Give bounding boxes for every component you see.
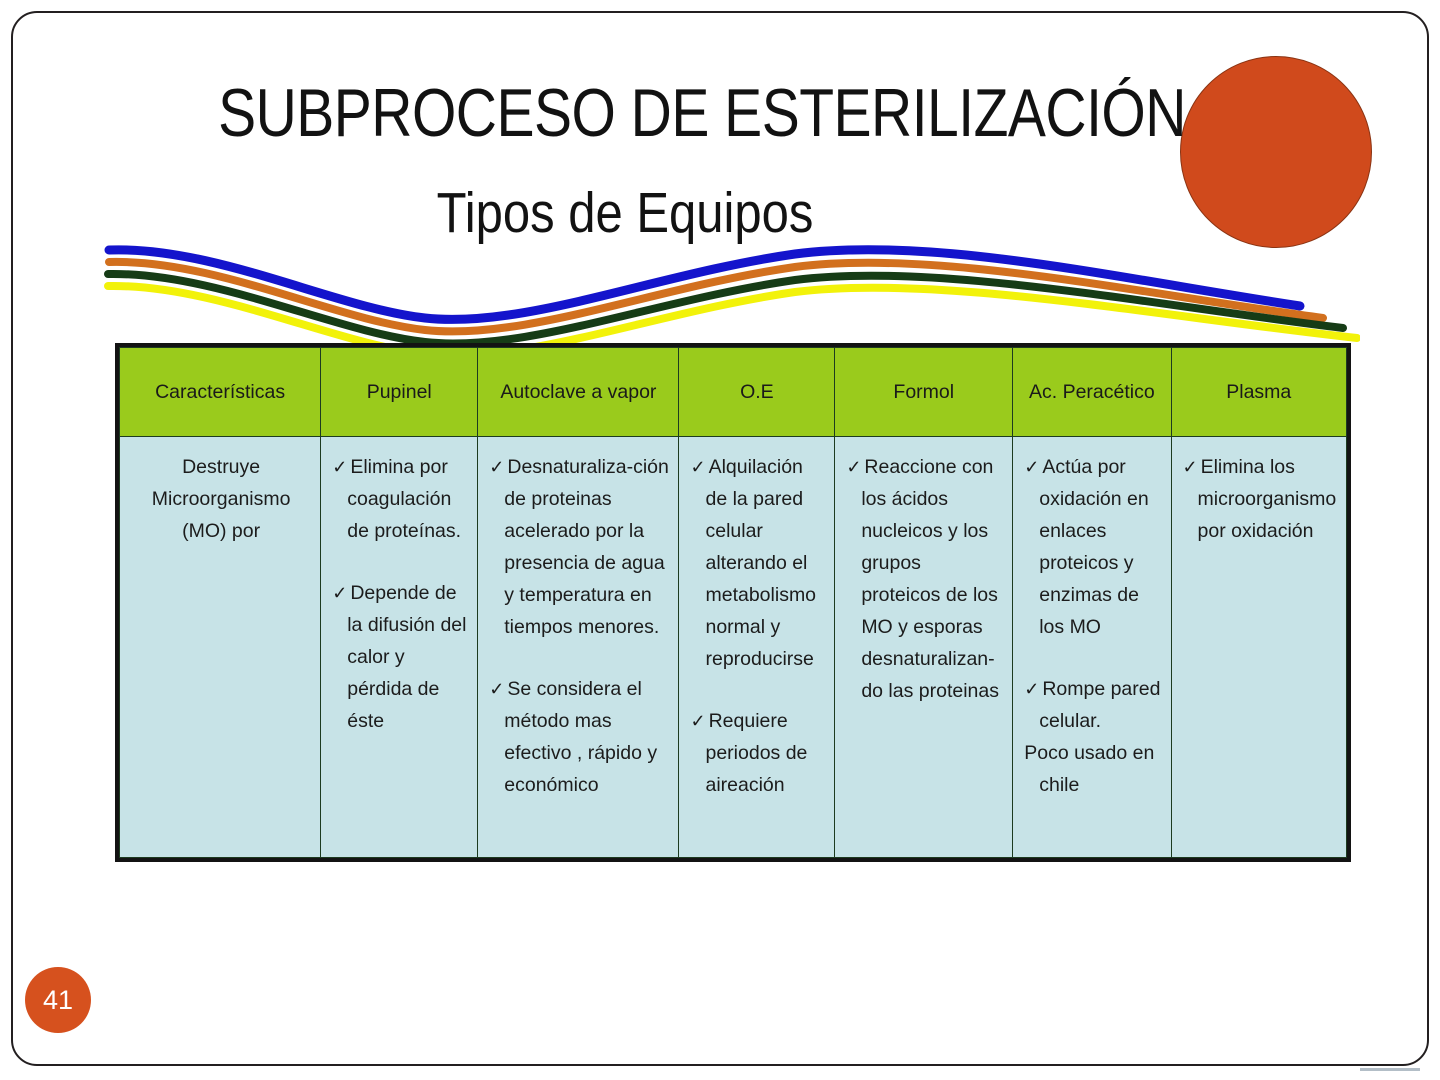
check-icon: ✓	[489, 679, 507, 699]
check-icon: ✓	[489, 457, 507, 477]
bullet-text: Desnaturaliza-ción de proteinas acelerad…	[504, 456, 669, 638]
check-icon: ✓	[690, 457, 708, 477]
check-icon: ✓	[332, 457, 350, 477]
bullet-note: Poco usado en chile	[1024, 737, 1161, 801]
column-header-autoclave-a-vapor: Autoclave a vapor	[478, 348, 679, 437]
cell-plasma: ✓Elimina los microorganismo por oxidació…	[1171, 437, 1347, 858]
equipment-types-table: Características Pupinel Autoclave a vapo…	[115, 343, 1351, 862]
bullet-item: ✓Rompe pared celular.	[1024, 673, 1161, 737]
bullet-text: Poco usado en chile	[1024, 742, 1154, 796]
table-header-row: Características Pupinel Autoclave a vapo…	[120, 348, 1347, 437]
bullet-item: ✓Actúa por oxidación en enlaces proteico…	[1024, 451, 1161, 643]
bullet-item: ✓Se considera el método mas efectivo , r…	[489, 673, 669, 801]
bullet-text: Se considera el método mas efectivo , rá…	[504, 678, 657, 796]
bullet-item: ✓Elimina los microorganismo por oxidació…	[1183, 451, 1338, 547]
bullet-item: ✓Depende de la difusión del calor y pérd…	[332, 577, 468, 737]
check-icon: ✓	[690, 711, 708, 731]
check-icon: ✓	[332, 583, 350, 603]
cell-row-label: Destruye Microorganismo (MO) por	[120, 437, 321, 858]
cell-pupinel: ✓Elimina por coagulación de proteínas. ✓…	[321, 437, 478, 858]
bullet-item: ✓Elimina por coagulación de proteínas.	[332, 451, 468, 547]
column-header-pupinel: Pupinel	[321, 348, 478, 437]
cell-ac-peracetico: ✓Actúa por oxidación en enlaces proteico…	[1013, 437, 1171, 858]
bullet-text: Elimina por coagulación de proteínas.	[347, 456, 461, 542]
column-header-plasma: Plasma	[1171, 348, 1347, 437]
check-icon: ✓	[1183, 457, 1201, 477]
page-subtitle: Tipos de Equipos	[0, 180, 1440, 238]
column-header-ac-peracetico: Ac. Peracético	[1013, 348, 1171, 437]
check-icon: ✓	[1024, 679, 1042, 699]
bullet-text: Alquilación de la pared celular alterand…	[705, 456, 816, 670]
bullet-text: Reaccione con los ácidos nucleicos y los…	[861, 456, 999, 702]
check-icon: ✓	[846, 457, 864, 477]
bottom-edge-artifact	[1360, 1068, 1420, 1071]
cell-formol: ✓Reaccione con los ácidos nucleicos y lo…	[835, 437, 1013, 858]
cell-autoclave: ✓Desnaturaliza-ción de proteinas acelera…	[478, 437, 679, 858]
column-header-formol: Formol	[835, 348, 1013, 437]
decorative-wave-lines	[95, 232, 1360, 344]
table-row: Destruye Microorganismo (MO) por ✓Elimin…	[120, 437, 1347, 858]
bullet-text: Requiere periodos de aireación	[705, 710, 807, 796]
column-header-oe: O.E	[679, 348, 835, 437]
bullet-item: ✓Requiere periodos de aireación	[690, 705, 825, 801]
column-header-caracteristicas: Características	[120, 348, 321, 437]
bullet-text: Depende de la difusión del calor y pérdi…	[347, 582, 466, 732]
page-number-text: 41	[43, 985, 73, 1016]
page-title: SUBPROCESO DE ESTERILIZACIÓN	[0, 76, 1440, 140]
page-title-text: SUBPROCESO DE ESTERILIZACIÓN	[218, 76, 1186, 152]
bullet-item: ✓Alquilación de la pared celular alteran…	[690, 451, 825, 675]
check-icon: ✓	[1024, 457, 1042, 477]
bullet-item: ✓Reaccione con los ácidos nucleicos y lo…	[846, 451, 1003, 707]
row-label-text: Destruye Microorganismo (MO) por	[120, 437, 320, 557]
bullet-text: Elimina los microorganismo por oxidación	[1198, 456, 1337, 542]
page-number-badge: 41	[25, 967, 91, 1033]
bullet-text: Rompe pared celular.	[1039, 678, 1160, 732]
bullet-item: ✓Desnaturaliza-ción de proteinas acelera…	[489, 451, 669, 643]
cell-oe: ✓Alquilación de la pared celular alteran…	[679, 437, 835, 858]
slide-canvas: SUBPROCESO DE ESTERILIZACIÓN Tipos de Eq…	[0, 0, 1440, 1080]
bullet-text: Actúa por oxidación en enlaces proteicos…	[1039, 456, 1149, 638]
